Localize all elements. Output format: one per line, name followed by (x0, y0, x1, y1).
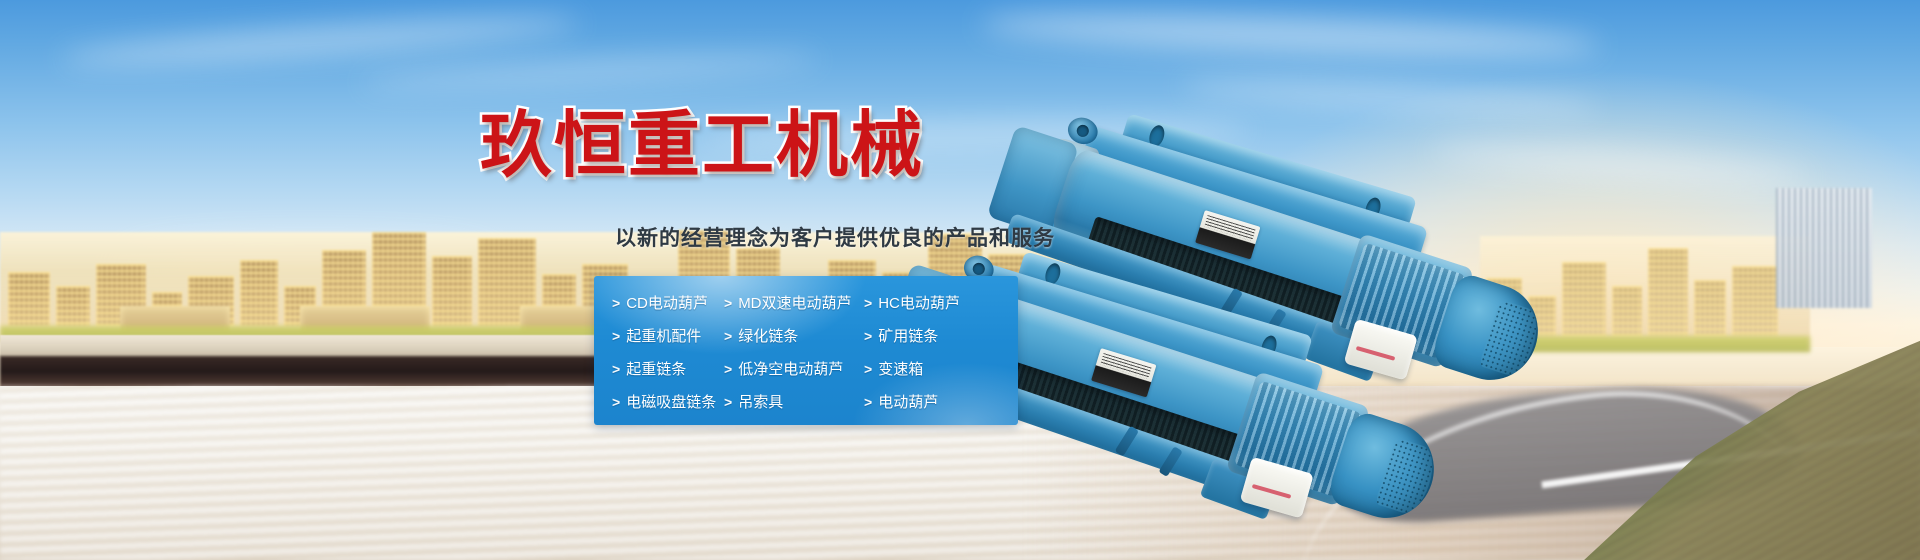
company-title: 玖恒重工机械 (480, 110, 924, 182)
chevron-right-icon: > (724, 361, 732, 377)
chevron-right-icon: > (864, 394, 872, 410)
product-category-link[interactable]: >起重链条 (612, 358, 724, 379)
product-category-link[interactable]: >电动葫芦 (864, 391, 1010, 412)
product-category-link[interactable]: >MD双速电动葫芦 (724, 292, 864, 313)
chevron-right-icon: > (612, 394, 620, 410)
product-category-link[interactable]: >低净空电动葫芦 (724, 358, 864, 379)
chevron-right-icon: > (612, 295, 620, 311)
product-category-link[interactable]: >电磁吸盘链条 (612, 391, 724, 412)
chevron-right-icon: > (864, 295, 872, 311)
chevron-right-icon: > (864, 361, 872, 377)
product-category-label: HC电动葫芦 (878, 292, 960, 313)
product-category-link[interactable]: >绿化链条 (724, 325, 864, 346)
product-category-link[interactable]: >变速箱 (864, 358, 1010, 379)
chevron-right-icon: > (612, 361, 620, 377)
chevron-right-icon: > (724, 328, 732, 344)
product-category-label: 吊索具 (738, 391, 783, 412)
tagline: 以新的经营理念为客户提供优良的产品和服务 (615, 222, 1055, 252)
product-category-label: MD双速电动葫芦 (738, 292, 851, 313)
product-category-panel: >CD电动葫芦>MD双速电动葫芦>HC电动葫芦>起重机配件>绿化链条>矿用链条>… (594, 276, 1018, 425)
chevron-right-icon: > (724, 295, 732, 311)
product-category-label: 起重机配件 (626, 325, 701, 346)
chevron-right-icon: > (612, 328, 620, 344)
product-category-label: CD电动葫芦 (626, 292, 708, 313)
product-category-link[interactable]: >矿用链条 (864, 325, 1010, 346)
product-category-link[interactable]: >吊索具 (724, 391, 864, 412)
product-category-link[interactable]: >CD电动葫芦 (612, 292, 724, 313)
product-category-label: 电磁吸盘链条 (626, 391, 716, 412)
product-category-label: 变速箱 (878, 358, 923, 379)
product-category-grid: >CD电动葫芦>MD双速电动葫芦>HC电动葫芦>起重机配件>绿化链条>矿用链条>… (612, 286, 1010, 417)
product-category-label: 低净空电动葫芦 (738, 358, 843, 379)
product-category-label: 起重链条 (626, 358, 686, 379)
chevron-right-icon: > (724, 394, 732, 410)
product-category-link[interactable]: >起重机配件 (612, 325, 724, 346)
hero-banner: 玖恒重工机械 以新的经营理念为客户提供优良的产品和服务 >CD电动葫芦>MD双速… (0, 0, 1920, 560)
chevron-right-icon: > (864, 328, 872, 344)
product-category-label: 绿化链条 (738, 325, 798, 346)
product-category-label: 矿用链条 (878, 325, 938, 346)
product-category-label: 电动葫芦 (878, 391, 938, 412)
product-category-link[interactable]: >HC电动葫芦 (864, 292, 1010, 313)
